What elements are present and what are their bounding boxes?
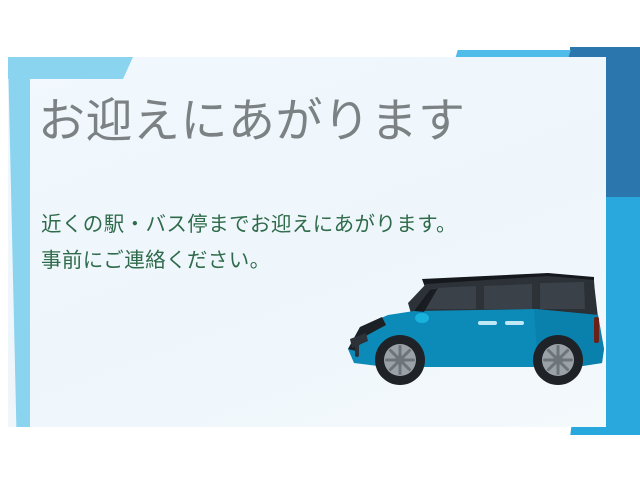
content-card: お迎えにあがります 近くの駅・バス停までお迎えにあがります。 事前にご連絡くださ… bbox=[8, 57, 606, 427]
artboard: お迎えにあがります 近くの駅・バス停までお迎えにあがります。 事前にご連絡くださ… bbox=[0, 47, 640, 435]
pickup-service-banner: お迎えにあがります 近くの駅・バス停までお迎えにあがります。 事前にご連絡くださ… bbox=[0, 0, 640, 480]
accent-frame-horizontal bbox=[8, 57, 133, 79]
body-line-1: 近くの駅・バス停までお迎えにあがります。 bbox=[41, 207, 457, 243]
headline-text: お迎えにあがります bbox=[38, 95, 466, 148]
accent-frame-vertical bbox=[8, 57, 30, 427]
minivan-car-illustration bbox=[326, 257, 616, 392]
